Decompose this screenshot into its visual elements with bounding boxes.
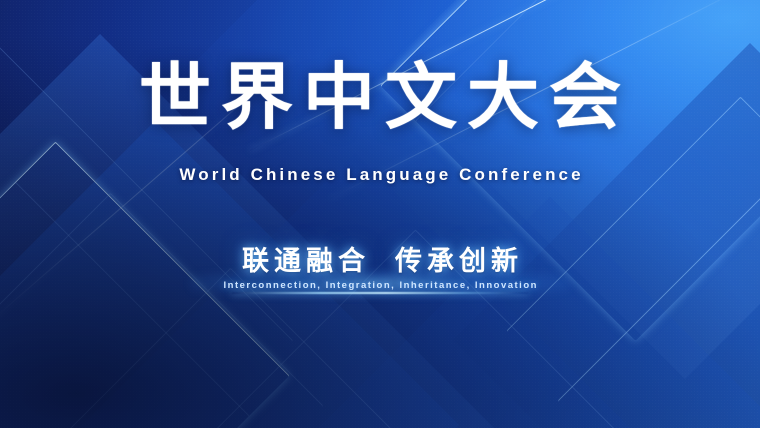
conference-title-english: World Chinese Language Conference	[0, 165, 760, 185]
slogan-english: Interconnection, Integration, Inheritanc…	[0, 280, 760, 291]
poster-content: 世界中文大会 World Chinese Language Conference…	[0, 0, 760, 428]
conference-title-chinese: 世界中文大会	[0, 62, 760, 134]
slogan-block: 联通融合 传承创新 Interconnection, Integration, …	[0, 246, 760, 291]
slogan-underline	[232, 292, 528, 294]
conference-poster: 世界中文大会 World Chinese Language Conference…	[0, 0, 760, 428]
slogan-chinese: 联通融合 传承创新	[0, 246, 760, 276]
